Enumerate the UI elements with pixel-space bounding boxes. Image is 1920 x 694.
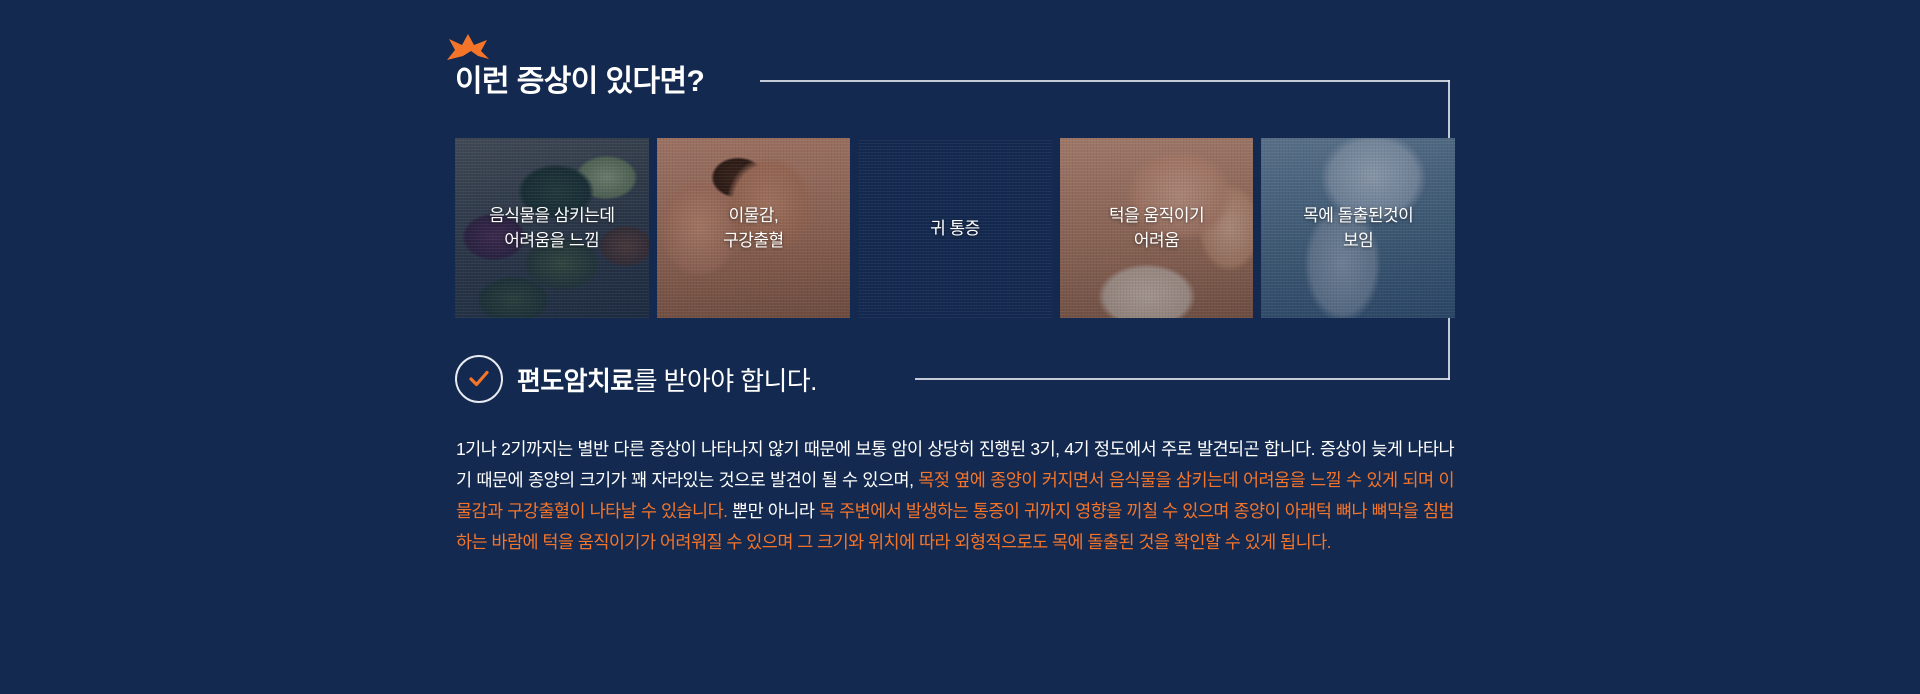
treatment-heading-text: 편도암치료를 받아야 합니다. bbox=[517, 361, 817, 398]
caption-line-1: 귀 통증 bbox=[930, 216, 980, 241]
body-part-2: 뿐만 아니라 bbox=[727, 501, 819, 521]
caption-line-1: 목에 돌출된것이 bbox=[1303, 203, 1413, 228]
symptom-card[interactable]: 목에 돌출된것이 보임 bbox=[1261, 138, 1455, 318]
symptom-card-caption: 턱을 움직이기 어려움 bbox=[1101, 203, 1212, 253]
caption-line-2: 보임 bbox=[1303, 228, 1413, 253]
caption-line-1: 턱을 움직이기 bbox=[1109, 203, 1204, 228]
treatment-heading-bold: 편도암치료 bbox=[517, 366, 634, 396]
symptom-card-caption: 음식물을 삼키는데 어려움을 느낌 bbox=[481, 203, 622, 253]
symptoms-heading: 이런 증상이 있다면? bbox=[455, 52, 704, 100]
symptom-card[interactable]: 이물감, 구강출혈 bbox=[657, 138, 851, 318]
body-paragraph: 1기나 2기까지는 별반 다른 증상이 나타나지 않기 때문에 보통 암이 상당… bbox=[456, 434, 1454, 558]
symptom-card-list: 음식물을 삼키는데 어려움을 느낌 이물감, 구강출혈 귀 통증 bbox=[455, 138, 1455, 318]
burst-star-icon bbox=[445, 34, 491, 72]
check-circle-icon bbox=[455, 355, 503, 403]
symptom-card-caption: 귀 통증 bbox=[922, 216, 988, 241]
symptoms-heading-text: 이런 증상이 있다면? bbox=[455, 64, 704, 100]
treatment-heading: 편도암치료를 받아야 합니다. bbox=[455, 355, 817, 403]
symptom-card-caption: 목에 돌출된것이 보임 bbox=[1295, 203, 1421, 253]
bracket-line-top bbox=[760, 80, 1450, 82]
caption-line-1: 이물감, bbox=[723, 203, 784, 228]
caption-line-2: 어려움 bbox=[1109, 228, 1204, 253]
symptom-card[interactable]: 귀 통증 bbox=[858, 138, 1052, 318]
symptom-card[interactable]: 턱을 움직이기 어려움 bbox=[1060, 138, 1254, 318]
info-panel: 이런 증상이 있다면? 음식물을 삼키는데 어려움을 느낌 이물감, 구강출혈 bbox=[0, 0, 1920, 694]
symptom-card-caption: 이물감, 구강출혈 bbox=[715, 203, 792, 253]
caption-line-2: 어려움을 느낌 bbox=[489, 228, 614, 253]
bracket-line-bottom bbox=[915, 378, 1450, 380]
caption-line-1: 음식물을 삼키는데 bbox=[489, 203, 614, 228]
caption-line-2: 구강출혈 bbox=[723, 228, 784, 253]
symptom-card[interactable]: 음식물을 삼키는데 어려움을 느낌 bbox=[455, 138, 649, 318]
treatment-heading-rest: 를 받아야 합니다. bbox=[634, 366, 817, 396]
